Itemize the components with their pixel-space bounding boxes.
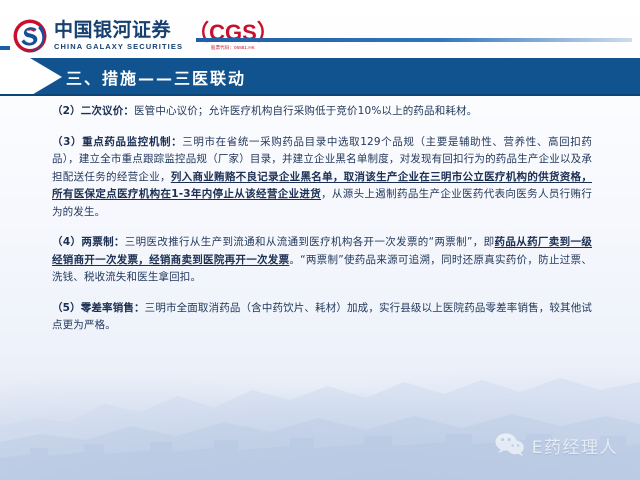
cgs-emblem-icon [12, 18, 48, 54]
brand-stock-code: 股票代码：06881.HK [211, 45, 255, 51]
paragraph-5: （5）零差率销售：三明市全面取消药品（含中药饮片、耗材）加成，实行县级以上医院药… [52, 300, 592, 335]
slide-body: （2）二次议价：医管中心议价；允许医疗机构自行采购低于竞价10%以上的药品和耗材… [52, 103, 592, 347]
paragraph-4-text-a: 三明医改推行从生产到流通和从流通到医疗机构各开一次发票的“两票制”，即 [125, 236, 495, 248]
brand-logo: 中国银河证券 CHINA GALAXY SECURITIES （CGS） 股票代… [12, 18, 279, 54]
slide-header: 中国银河证券 CHINA GALAXY SECURITIES （CGS） 股票代… [0, 0, 640, 58]
watermark-label: E药经理人 [532, 433, 618, 458]
paragraph-3: （3）重点药品监控机制：三明市在省统一采购药品目录中选取129个品规（主要是辅助… [52, 134, 592, 222]
paragraph-2-lead: （2）二次议价： [52, 105, 134, 117]
section-banner-underline [0, 94, 640, 96]
paragraph-4-lead: （4）两票制： [52, 236, 125, 248]
paragraph-5-lead: （5）零差率销售： [52, 302, 145, 314]
section-banner: 三、措施——三医联动 [0, 58, 640, 96]
paragraph-2: （2）二次议价：医管中心议价；允许医疗机构自行采购低于竞价10%以上的药品和耗材… [52, 103, 592, 121]
header-edge-tick [0, 46, 10, 50]
paragraph-3-lead: （3）重点药品监控机制： [52, 136, 182, 148]
chevron-right-icon [0, 58, 62, 96]
section-title: 三、措施——三医联动 [66, 58, 246, 96]
brand-name-en: CHINA GALAXY SECURITIES [54, 42, 183, 51]
paragraph-2-text: 医管中心议价；允许医疗机构自行采购低于竞价10%以上的药品和耗材。 [134, 105, 477, 117]
header-rule [196, 38, 632, 42]
wechat-icon [495, 432, 525, 458]
brand-wordmark: 中国银河证券 CHINA GALAXY SECURITIES （CGS） 股票代… [54, 21, 279, 51]
brand-name-cn: 中国银河证券 [54, 21, 183, 41]
slide-canvas: 中国银河证券 CHINA GALAXY SECURITIES （CGS） 股票代… [0, 0, 640, 480]
watermark: E药经理人 [495, 432, 618, 458]
paragraph-4: （4）两票制：三明医改推行从生产到流通和从流通到医疗机构各开一次发票的“两票制”… [52, 234, 592, 287]
